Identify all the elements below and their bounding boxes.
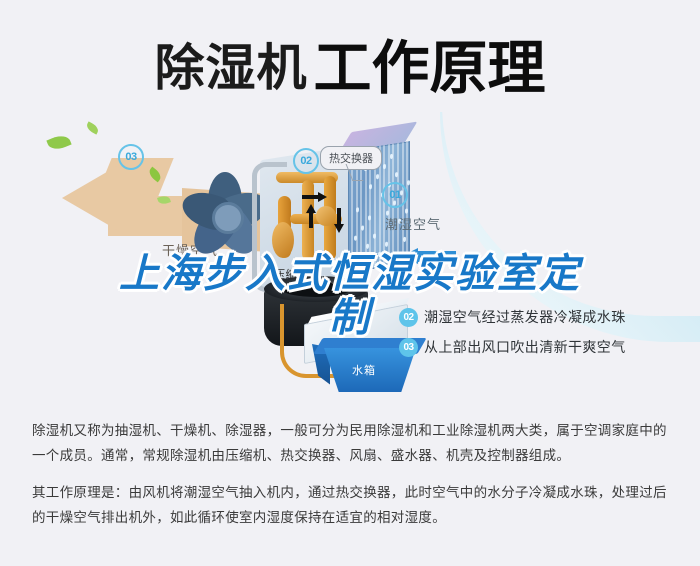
page-title-part2: 工作原理 xyxy=(313,34,545,102)
flow-arrow-up xyxy=(309,212,313,228)
leaf-icon xyxy=(85,121,100,134)
watermark-line2: 制 xyxy=(0,296,700,340)
flow-arrow-up-head xyxy=(306,204,316,213)
water-tank-label: 水箱 xyxy=(352,362,376,378)
water-droplet xyxy=(407,180,410,185)
page-title-part1: 除湿机 xyxy=(154,39,307,97)
water-droplet xyxy=(369,184,372,189)
body-text: 除湿机又称为抽湿机、干燥机、除湿器，一般可分为民用除湿机和工业除湿机两大类，属于… xyxy=(32,418,672,542)
legend-text: 从上部出风口吹出清新干爽空气 xyxy=(424,337,626,357)
dry-air-arrow-head xyxy=(62,162,124,234)
badge-03: 03 xyxy=(118,144,144,170)
infographic-page: 除湿机工作原理 干燥空气 xyxy=(0,0,700,566)
flow-arrow-right xyxy=(302,195,318,199)
leaf-icon xyxy=(46,132,71,152)
water-droplet xyxy=(383,164,386,169)
flow-arrow-down xyxy=(337,208,341,224)
page-title: 除湿机工作原理 xyxy=(0,38,700,102)
legend-badge: 03 xyxy=(399,338,418,357)
water-droplet xyxy=(356,207,359,212)
humid-air-label: 潮湿空气 xyxy=(385,214,441,233)
flow-arrow-down-head xyxy=(334,224,344,233)
evaporator-fin xyxy=(406,141,408,263)
body-paragraph-1: 除湿机又称为抽湿机、干燥机、除湿器，一般可分为民用除湿机和工业除湿机两大类，属于… xyxy=(32,418,672,468)
badge-01: 01 xyxy=(382,182,408,208)
badge-02: 02 xyxy=(293,148,319,174)
watermark: 上海步入式恒湿实验室定 制 xyxy=(0,252,700,340)
watermark-line1: 上海步入式恒湿实验室定 xyxy=(0,252,700,296)
body-paragraph-2: 其工作原理是：由风机将潮湿空气抽入机内，通过热交换器，此时空气中的水分子冷凝成水… xyxy=(32,480,672,530)
water-droplet xyxy=(361,225,364,230)
fan-hub xyxy=(212,202,244,234)
coil-bend xyxy=(316,206,336,226)
flow-arrow-right-head xyxy=(318,192,327,202)
